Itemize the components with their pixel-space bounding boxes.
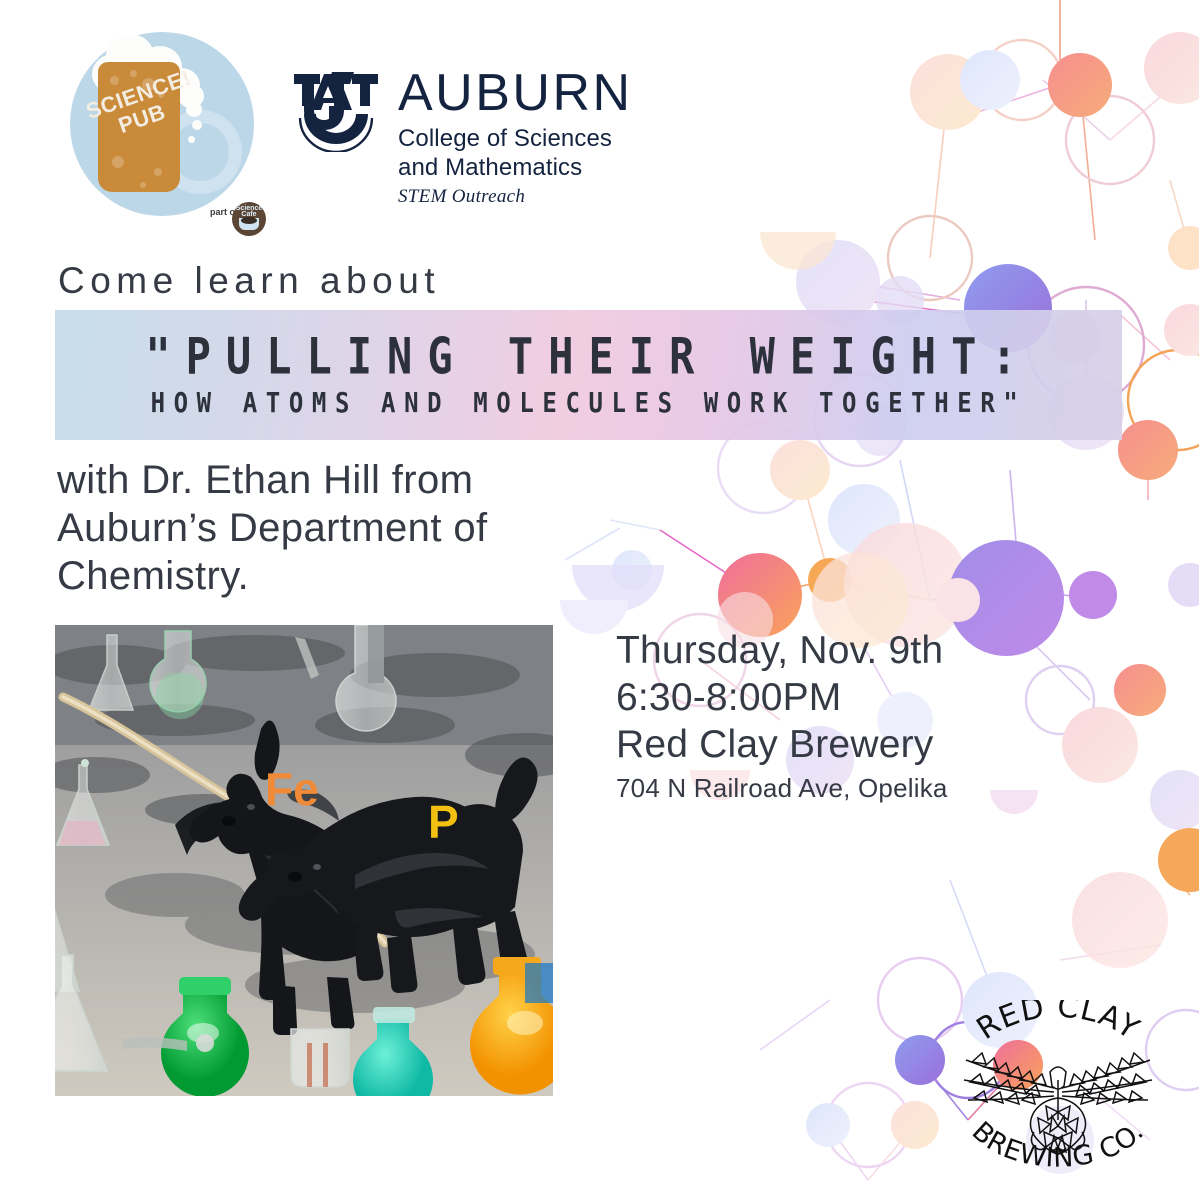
event-venue: Red Clay Brewery (616, 721, 1076, 768)
title-block: "PULLING THEIR WEIGHT: HOW ATOMS AND MOL… (55, 310, 1122, 440)
auburn-stem-outreach: STEM Outreach (398, 186, 633, 208)
event-details: Thursday, Nov. 9th 6:30-8:00PM Red Clay … (616, 627, 1076, 805)
event-date: Thursday, Nov. 9th (616, 627, 1076, 674)
event-time: 6:30-8:00PM (616, 674, 1076, 721)
auburn-wordmark-block: AUBURN College of Sciences and Mathemati… (398, 66, 633, 208)
red-clay-bottom-text: BREWING CO. (958, 1118, 1158, 1180)
auburn-college-line2: and Mathematics (398, 153, 633, 182)
auburn-wordmark: AUBURN (398, 66, 633, 120)
auburn-au-mark-icon (288, 70, 384, 152)
kicker-text: Come learn about (58, 260, 440, 302)
event-address: 704 N Railroad Ave, Opelika (616, 771, 1076, 805)
title-line-1: "PULLING THEIR WEIGHT: (145, 329, 1031, 386)
event-photo (55, 625, 553, 1096)
coffee-liquid-icon (241, 217, 257, 224)
red-clay-bottom-label: BREWING CO. (966, 1118, 1150, 1174)
title-line-2: HOW ATOMS AND MOLECULES WORK TOGETHER" (151, 387, 1027, 419)
red-clay-logo: RED CLAY (958, 1000, 1158, 1180)
photo-label-p: P (428, 795, 459, 849)
speaker-text: with Dr. Ethan Hill from Auburn’s Depart… (57, 456, 637, 600)
svg-text:BREWING CO.: BREWING CO. (966, 1118, 1150, 1174)
part-of-badge: part of Science Cafe (210, 200, 266, 240)
photo-label-fe: Fe (265, 762, 319, 816)
flyer-canvas: SCIENCE! PUB part of Science Cafe AUB (0, 0, 1199, 1199)
science-pub-logo: SCIENCE! PUB part of Science Cafe (62, 24, 262, 224)
auburn-college-line1: College of Sciences (398, 124, 633, 153)
